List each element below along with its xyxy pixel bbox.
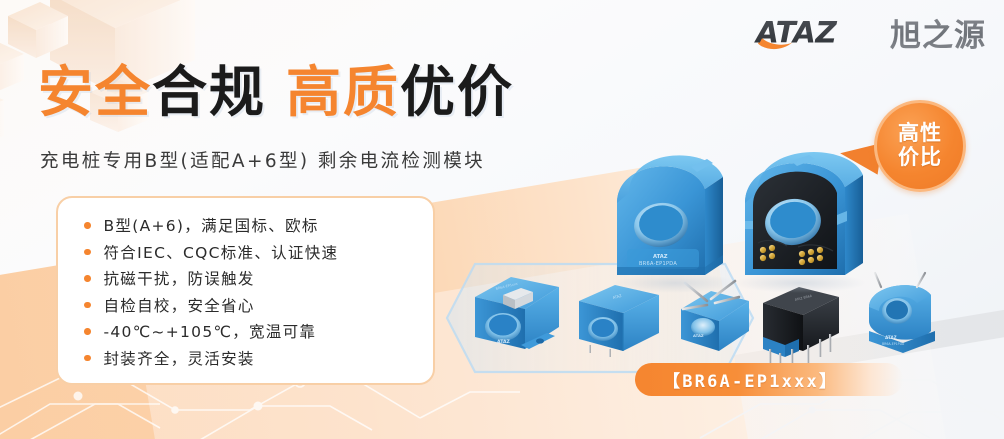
badge-line-1: 高性 <box>898 122 942 146</box>
page-title: 安全合规高质优价 <box>38 64 514 122</box>
svg-text:ATAZ: ATAZ <box>693 333 704 338</box>
product-through-hole-sensor: ATAZ BR6A-EP1xxx <box>475 277 559 349</box>
product-hero-black <box>745 152 863 275</box>
product-black-module: ATAZ BR6A <box>763 287 839 373</box>
product-square-block-sensor: ATAZ <box>579 285 659 357</box>
ataz-wordmark: ATAZ <box>753 13 881 53</box>
value-badge: 高性 价比 <box>852 92 982 200</box>
svg-text:ATAZ: ATAZ <box>754 15 837 49</box>
product-model-label: 【BR6A-EP1xxx】 <box>635 367 838 392</box>
bullet-dot-icon <box>84 302 91 309</box>
list-item: 封装齐全，灵活安装 <box>84 345 433 372</box>
svg-text:ATAZ: ATAZ <box>885 335 897 340</box>
headline-segment-2: 合规 <box>152 60 266 124</box>
svg-text:BR6A-EP1PDA: BR6A-EP1PDA <box>882 342 905 346</box>
list-item: 抗磁干扰，防误触发 <box>84 265 433 292</box>
svg-text:ATAZ: ATAZ <box>653 254 668 260</box>
list-item: B型(A+6)，满足国标、欧标 <box>84 212 433 239</box>
feature-text: 抗磁干扰，防误触发 <box>104 267 255 289</box>
bullet-dot-icon <box>84 275 91 282</box>
svg-text:BR6A-EP1PDA: BR6A-EP1PDA <box>639 261 677 267</box>
badge-line-2: 价比 <box>898 146 942 170</box>
page-subtitle: 充电桩专用B型(适配A+6型) 剩余电流检测模块 <box>40 147 485 173</box>
headline-segment-4: 优价 <box>400 60 514 124</box>
bullet-dot-icon <box>84 249 91 256</box>
feature-text: -40℃~+105℃，宽温可靠 <box>104 320 317 342</box>
headline-segment-1: 安全 <box>38 60 152 124</box>
list-item: 符合IEC、CQC标准、认证快速 <box>84 239 433 266</box>
svg-text:ATAZ: ATAZ <box>497 339 511 345</box>
brand-name-cn: 旭之源 <box>890 10 986 55</box>
product-hero-blue: ATAZ BR6A-EP1PDA <box>617 155 723 275</box>
promo-banner: ATAZ 旭之源 安全合规高质优价 充电桩专用B型(适配A+6型) 剩余电流检测… <box>0 0 1004 439</box>
product-model-pill: 【BR6A-EP1xxx】 <box>635 363 903 396</box>
bullet-dot-icon <box>84 355 91 362</box>
headline-segment-3: 高质 <box>286 60 400 124</box>
bullet-dot-icon <box>84 328 91 335</box>
feature-list: B型(A+6)，满足国标、欧标 符合IEC、CQC标准、认证快速 抗磁干扰，防误… <box>58 198 433 371</box>
brand-logo: ATAZ 旭之源 <box>753 10 986 55</box>
badge-circle: 高性 价比 <box>874 100 966 192</box>
feature-text: B型(A+6)，满足国标、欧标 <box>104 214 319 236</box>
feature-text: 自检自校，安全省心 <box>104 294 255 316</box>
feature-text: 封装齐全，灵活安装 <box>104 347 255 369</box>
bullet-dot-icon <box>84 222 91 229</box>
feature-text: 符合IEC、CQC标准、认证快速 <box>104 241 339 263</box>
list-item: -40℃~+105℃，宽温可靠 <box>84 318 433 345</box>
feature-card: B型(A+6)，满足国标、欧标 符合IEC、CQC标准、认证快速 抗磁干扰，防误… <box>56 196 435 385</box>
list-item: 自检自校，安全省心 <box>84 292 433 319</box>
